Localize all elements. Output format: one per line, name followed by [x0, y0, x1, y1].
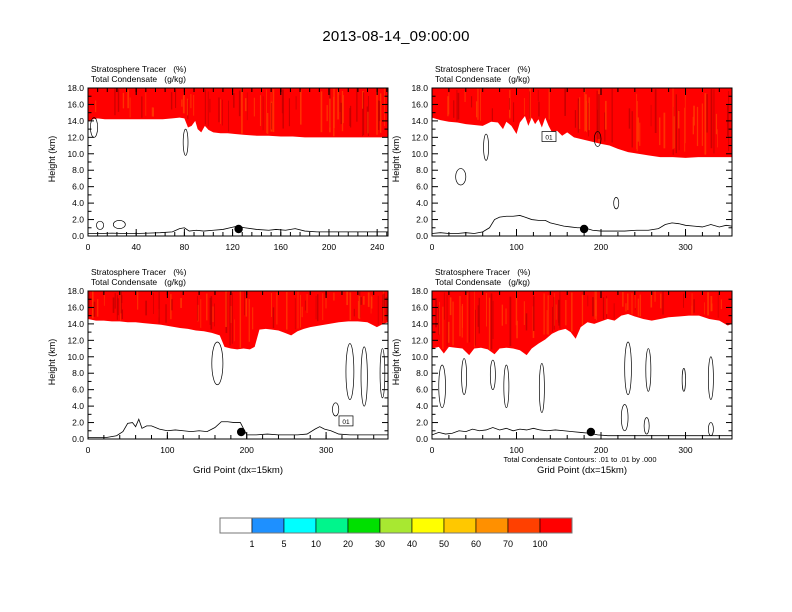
colorbar: 1510203040506070100: [220, 518, 572, 554]
colorbar-tick-label: 30: [375, 539, 385, 549]
y-axis-label: Height (km): [47, 312, 57, 412]
svg-text:2.0: 2.0: [72, 215, 84, 225]
svg-text:8.0: 8.0: [416, 368, 428, 378]
svg-text:0: 0: [86, 242, 91, 252]
svg-text:0: 0: [430, 242, 435, 252]
colorbar-tick-label: 1: [249, 539, 254, 549]
svg-text:12.0: 12.0: [67, 132, 84, 142]
colorbar-tick-label: 20: [343, 539, 353, 549]
svg-text:2.0: 2.0: [416, 418, 428, 428]
figure-title: 2013-08-14_09:00:00: [0, 28, 792, 45]
colorbar-swatch: [412, 518, 444, 533]
colorbar-tick-label: 50: [439, 539, 449, 549]
svg-text:0.0: 0.0: [72, 231, 84, 241]
svg-text:8.0: 8.0: [72, 165, 84, 175]
colorbar-tick-label: 60: [471, 539, 481, 549]
panel-header-tracer: Stratosphere Tracer (%): [435, 267, 530, 278]
svg-text:160: 160: [274, 242, 288, 252]
y-axis-label: Height (km): [391, 312, 401, 412]
panel-header-condensate: Total Condensate (g/kg): [91, 277, 186, 288]
svg-text:300: 300: [678, 445, 692, 455]
plot-west-east: 010.02.04.06.08.010.012.014.016.018.0010…: [62, 291, 414, 465]
colorbar-swatch: [540, 518, 572, 533]
svg-text:120: 120: [225, 242, 239, 252]
svg-text:14.0: 14.0: [411, 319, 428, 329]
svg-text:200: 200: [594, 242, 608, 252]
svg-text:14.0: 14.0: [67, 319, 84, 329]
svg-text:300: 300: [678, 242, 692, 252]
svg-text:16.0: 16.0: [411, 99, 428, 109]
svg-text:10.0: 10.0: [411, 352, 428, 362]
colorbar-tick-label: 70: [503, 539, 513, 549]
svg-text:18.0: 18.0: [67, 83, 84, 93]
contour-note: Total Condensate Contours: .01 to .01 by…: [503, 455, 656, 464]
svg-text:80: 80: [180, 242, 190, 252]
svg-text:10.0: 10.0: [411, 149, 428, 159]
y-axis-label: Height (km): [47, 109, 57, 209]
svg-text:01: 01: [342, 419, 350, 426]
svg-text:16.0: 16.0: [411, 302, 428, 312]
svg-text:0: 0: [430, 445, 435, 455]
colorbar-tick-label: 40: [407, 539, 417, 549]
svg-text:8.0: 8.0: [416, 165, 428, 175]
svg-text:18.0: 18.0: [411, 83, 428, 93]
svg-text:14.0: 14.0: [411, 116, 428, 126]
svg-text:18.0: 18.0: [411, 286, 428, 296]
svg-text:0.0: 0.0: [416, 231, 428, 241]
x-axis-label: Grid Point (dx=15km): [432, 465, 732, 476]
svg-text:4.0: 4.0: [416, 401, 428, 411]
colorbar-swatch: [476, 518, 508, 533]
svg-text:40: 40: [131, 242, 141, 252]
plot-nw-se: 0.02.04.06.08.010.012.014.016.018.001002…: [406, 291, 758, 465]
panel-header-tracer: Stratosphere Tracer (%): [91, 64, 186, 75]
figure-root: 2013-08-14_09:00:00 Stratosphere Tracer …: [0, 0, 792, 612]
svg-text:01: 01: [545, 135, 553, 142]
svg-text:100: 100: [509, 445, 523, 455]
colorbar-tick-label: 5: [281, 539, 286, 549]
colorbar-tick-label: 10: [311, 539, 321, 549]
svg-text:14.0: 14.0: [67, 116, 84, 126]
svg-text:12.0: 12.0: [411, 335, 428, 345]
svg-text:6.0: 6.0: [72, 385, 84, 395]
colorbar-swatch: [508, 518, 540, 533]
colorbar-swatch: [444, 518, 476, 533]
svg-text:6.0: 6.0: [416, 385, 428, 395]
svg-text:12.0: 12.0: [411, 132, 428, 142]
svg-text:8.0: 8.0: [72, 368, 84, 378]
svg-text:300: 300: [319, 445, 333, 455]
colorbar-swatch: [284, 518, 316, 533]
svg-text:2.0: 2.0: [72, 418, 84, 428]
svg-text:16.0: 16.0: [67, 302, 84, 312]
svg-text:10.0: 10.0: [67, 149, 84, 159]
svg-text:100: 100: [160, 445, 174, 455]
svg-text:6.0: 6.0: [72, 182, 84, 192]
svg-text:18.0: 18.0: [67, 286, 84, 296]
panel-header-condensate: Total Condensate (g/kg): [91, 74, 186, 85]
panel-header-tracer: Stratosphere Tracer (%): [435, 64, 530, 75]
svg-text:4.0: 4.0: [72, 401, 84, 411]
plot-sw-ne: 010.02.04.06.08.010.012.014.016.018.0010…: [406, 88, 758, 262]
svg-text:0: 0: [86, 445, 91, 455]
colorbar-swatch: [348, 518, 380, 533]
svg-text:200: 200: [240, 445, 254, 455]
panel-header-condensate: Total Condensate (g/kg): [435, 277, 530, 288]
svg-text:16.0: 16.0: [67, 99, 84, 109]
panel-header-tracer: Stratosphere Tracer (%): [91, 267, 186, 278]
svg-text:0.0: 0.0: [416, 434, 428, 444]
colorbar-tick-label: 100: [532, 539, 547, 549]
svg-text:6.0: 6.0: [416, 182, 428, 192]
svg-text:200: 200: [322, 242, 336, 252]
svg-text:12.0: 12.0: [67, 335, 84, 345]
colorbar-swatch: [316, 518, 348, 533]
svg-text:10.0: 10.0: [67, 352, 84, 362]
x-axis-label: Grid Point (dx=15km): [88, 465, 388, 476]
svg-text:4.0: 4.0: [416, 198, 428, 208]
colorbar-swatch: [252, 518, 284, 533]
svg-text:200: 200: [594, 445, 608, 455]
y-axis-label: Height (km): [391, 109, 401, 209]
svg-text:100: 100: [509, 242, 523, 252]
colorbar-swatch: [380, 518, 412, 533]
svg-text:0.0: 0.0: [72, 434, 84, 444]
plot-south-north: 0.02.04.06.08.010.012.014.016.018.004080…: [62, 88, 414, 262]
colorbar-swatch: [220, 518, 252, 533]
panel-header-condensate: Total Condensate (g/kg): [435, 74, 530, 85]
svg-text:4.0: 4.0: [72, 198, 84, 208]
svg-text:240: 240: [370, 242, 384, 252]
svg-text:2.0: 2.0: [416, 215, 428, 225]
